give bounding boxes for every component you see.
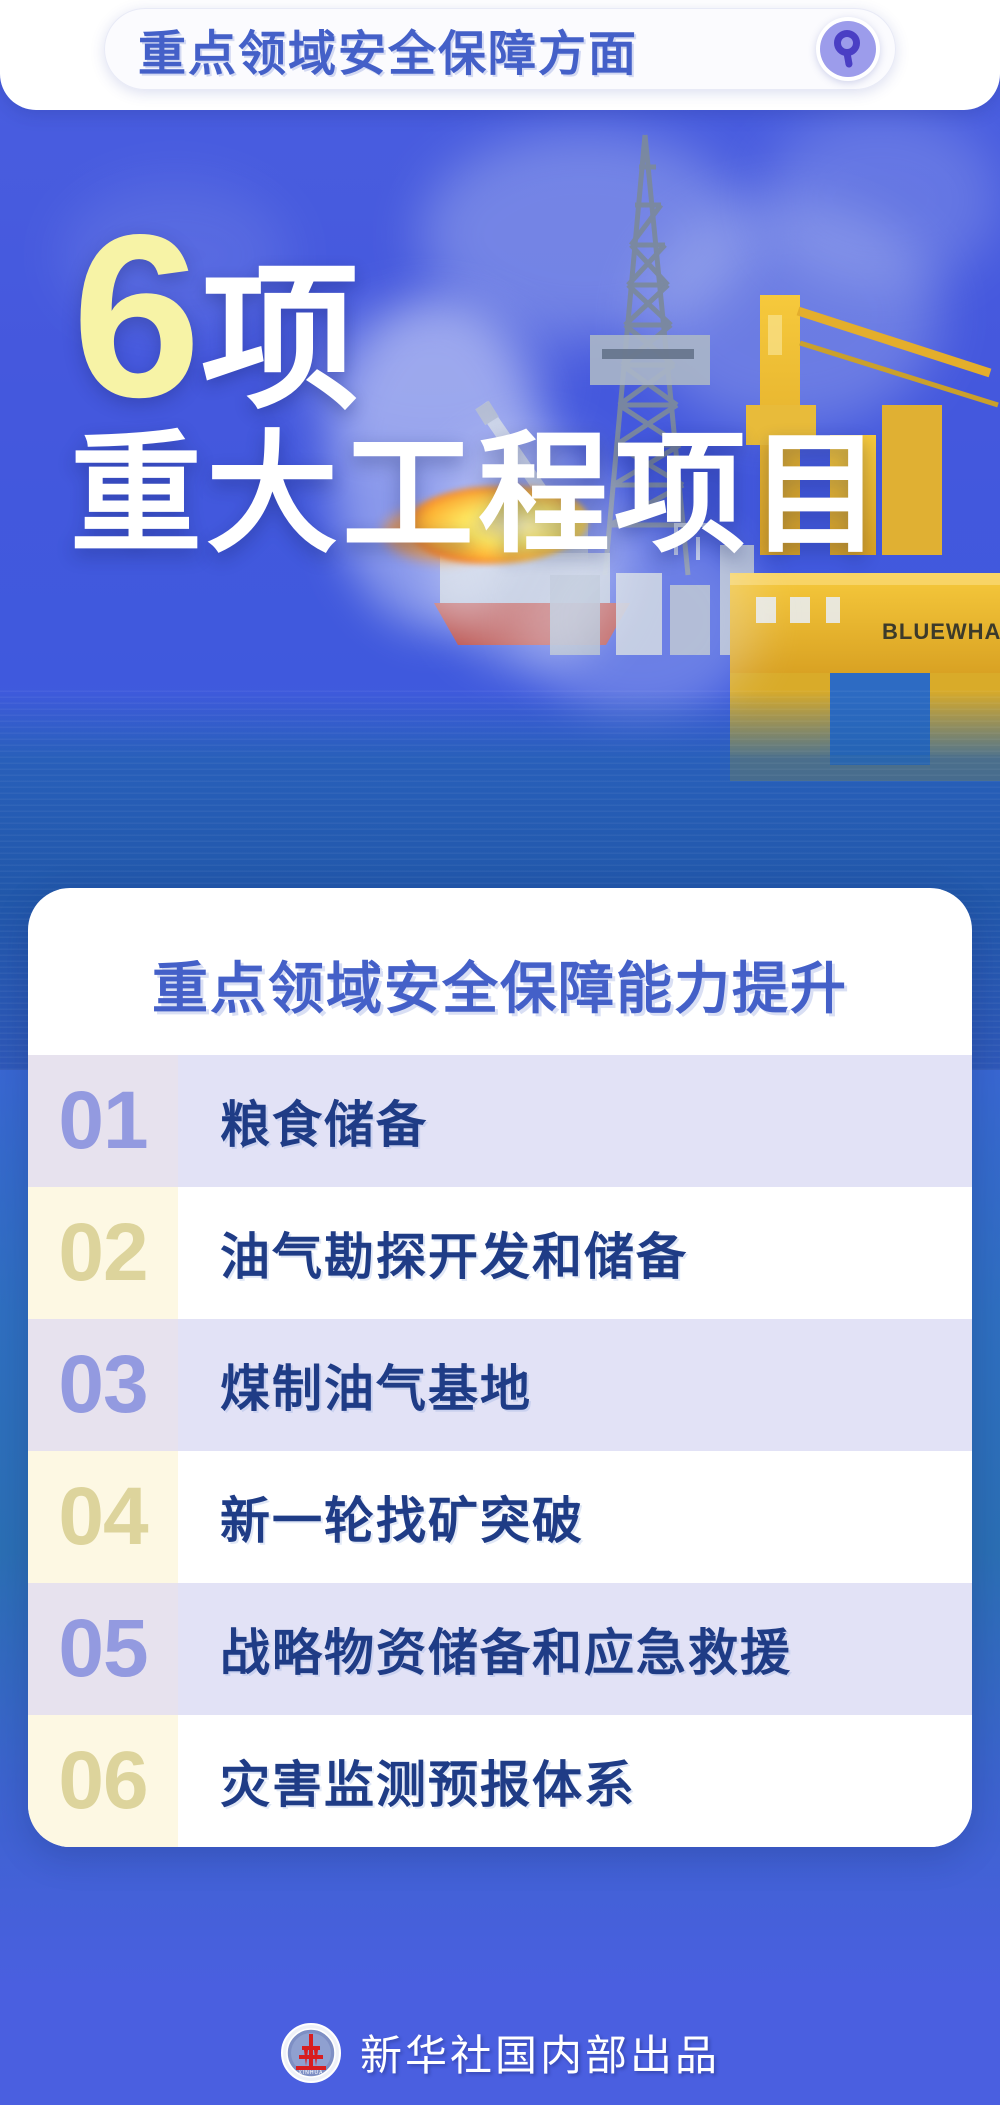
svg-text:BLUEWHALE: BLUEWHALE bbox=[882, 619, 1000, 644]
item-number: 05 bbox=[58, 1608, 147, 1690]
infographic-poster: BLUEWHALE 重点领域安 bbox=[0, 0, 1000, 2105]
xinhua-logo-icon: XINHUA bbox=[280, 2022, 342, 2084]
top-band: 重点领域安全保障方面 bbox=[0, 0, 1000, 110]
section-pill[interactable]: 重点领域安全保障方面 bbox=[104, 8, 896, 90]
item-label: 灾害监测预报体系 bbox=[220, 1745, 636, 1817]
item-label-cell: 煤制油气基地 bbox=[178, 1319, 972, 1451]
list-item[interactable]: 06 灾害监测预报体系 bbox=[28, 1715, 972, 1847]
item-label: 新一轮找矿突破 bbox=[220, 1481, 584, 1553]
item-label-cell: 新一轮找矿突破 bbox=[178, 1451, 972, 1583]
pill-title: 重点领域安全保障方面 bbox=[138, 14, 638, 84]
item-number-cell: 06 bbox=[28, 1715, 178, 1847]
list-item[interactable]: 01 粮食储备 bbox=[28, 1055, 972, 1187]
item-number-cell: 03 bbox=[28, 1319, 178, 1451]
item-label: 战略物资储备和应急救援 bbox=[220, 1613, 792, 1685]
item-list: 01 粮食储备 02 油气勘探开发和储备 03 煤制油气基地 bbox=[28, 1055, 972, 1847]
footer: XINHUA 新华社国内部出品 bbox=[0, 2000, 1000, 2105]
card-title: 重点领域安全保障能力提升 bbox=[28, 888, 972, 1055]
item-label: 煤制油气基地 bbox=[220, 1349, 532, 1421]
hero-subtitle: 重大工程项目 bbox=[0, 429, 1000, 561]
item-label-cell: 战略物资储备和应急救援 bbox=[178, 1583, 972, 1715]
magnifier-badge[interactable] bbox=[816, 17, 880, 81]
item-number: 01 bbox=[58, 1080, 147, 1162]
item-number: 02 bbox=[58, 1212, 147, 1294]
magnifier-icon bbox=[820, 21, 876, 77]
svg-text:XINHUA: XINHUA bbox=[299, 2070, 324, 2076]
item-label: 油气勘探开发和储备 bbox=[220, 1217, 688, 1289]
item-label-cell: 灾害监测预报体系 bbox=[178, 1715, 972, 1847]
item-number-cell: 02 bbox=[28, 1187, 178, 1319]
hero-count: 6 bbox=[72, 210, 197, 423]
item-label-cell: 油气勘探开发和储备 bbox=[178, 1187, 972, 1319]
item-label: 粮食储备 bbox=[220, 1085, 428, 1157]
item-number-cell: 04 bbox=[28, 1451, 178, 1583]
list-item[interactable]: 03 煤制油气基地 bbox=[28, 1319, 972, 1451]
item-number: 04 bbox=[58, 1476, 147, 1558]
item-number: 06 bbox=[58, 1740, 147, 1822]
footer-text: 新华社国内部出品 bbox=[360, 2022, 720, 2083]
item-number-cell: 05 bbox=[28, 1583, 178, 1715]
list-item[interactable]: 04 新一轮找矿突破 bbox=[28, 1451, 972, 1583]
hero-count-unit: 项 bbox=[201, 268, 359, 413]
list-item[interactable]: 05 战略物资储备和应急救援 bbox=[28, 1583, 972, 1715]
item-label-cell: 粮食储备 bbox=[178, 1055, 972, 1187]
hero-line-one: 6 项 bbox=[0, 210, 1000, 423]
item-number: 03 bbox=[58, 1344, 147, 1426]
list-card: 重点领域安全保障能力提升 01 粮食储备 02 油气勘探开发和储备 bbox=[28, 888, 972, 1847]
list-item[interactable]: 02 油气勘探开发和储备 bbox=[28, 1187, 972, 1319]
hero-headline: 6 项 重大工程项目 bbox=[0, 210, 1000, 561]
item-number-cell: 01 bbox=[28, 1055, 178, 1187]
